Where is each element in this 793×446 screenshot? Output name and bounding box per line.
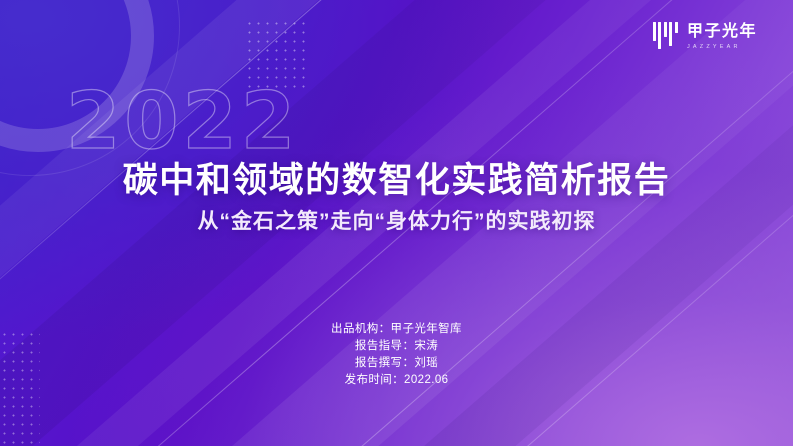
credit-row: 报告撰写：刘瑶: [355, 355, 438, 372]
brand-logo-text: 甲子光年 JAZZYEAR: [687, 24, 757, 50]
jazzyear-bars-icon: [653, 22, 678, 52]
title-slide: 2022 甲子光年 JAZZYEAR 碳中和领域的数智化实践简析报告 从“金石之…: [0, 0, 793, 446]
page-subtitle: 从“金石之策”走向“身体力行”的实践初探: [0, 205, 793, 235]
credit-row: 报告指导：宋涛: [355, 338, 438, 355]
year-watermark: 2022: [66, 83, 299, 161]
brand-logo: 甲子光年 JAZZYEAR: [653, 22, 757, 52]
credits-block: 出品机构：甲子光年智库 报告指导：宋涛 报告撰写：刘瑶 发布时间：2022.06: [0, 321, 793, 389]
brand-name-en: JAZZYEAR: [687, 44, 757, 50]
brand-name-cn: 甲子光年: [687, 24, 757, 41]
credit-row: 发布时间：2022.06: [345, 372, 449, 389]
page-title: 碳中和领域的数智化实践简析报告: [0, 152, 793, 203]
credit-row: 出品机构：甲子光年智库: [331, 321, 462, 338]
